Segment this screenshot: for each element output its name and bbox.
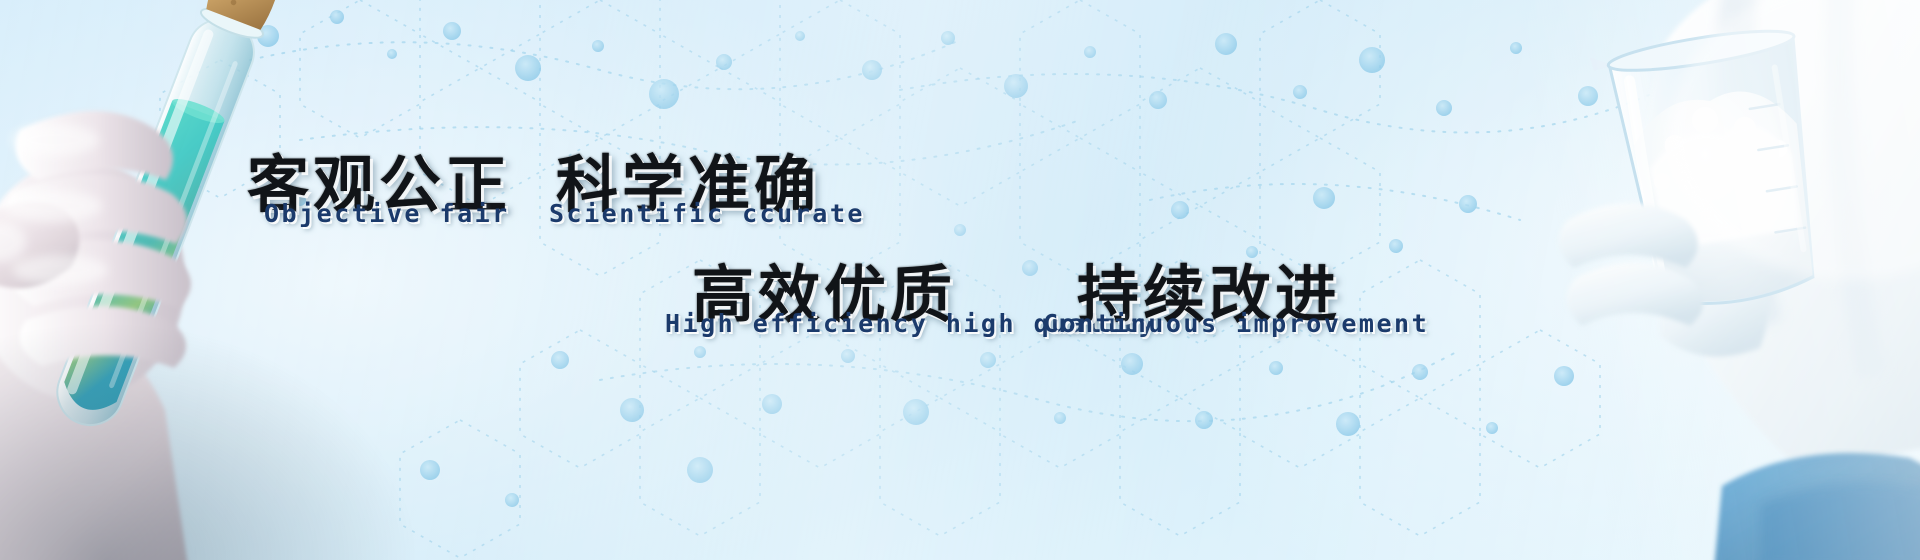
slogan-subtitle-scientific-accurate: Scientific ccurate [549, 199, 865, 228]
slogan-text-layer: 客观公正 Objective fair 科学准确 Scientific ccur… [0, 0, 1920, 560]
slogan-subtitle-continuous-improvement: Continuous improvement [1043, 309, 1429, 338]
slogan-subtitle-objective-fair: Objective fair [264, 199, 510, 228]
lab-banner: 客观公正 Objective fair 科学准确 Scientific ccur… [0, 0, 1920, 560]
